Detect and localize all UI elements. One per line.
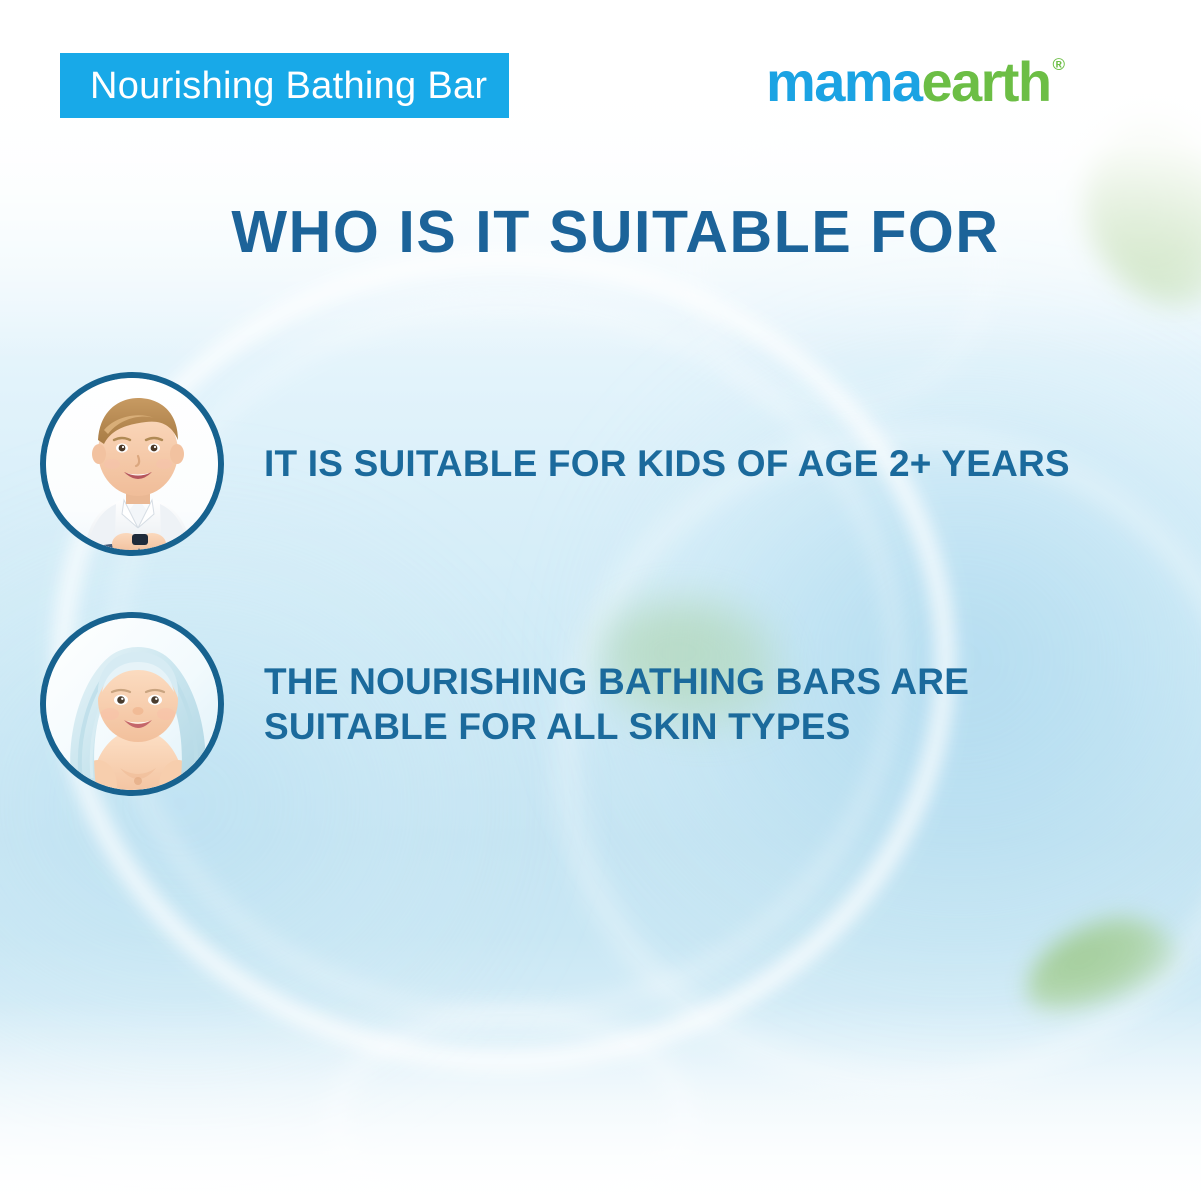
product-title-banner: Nourishing Bathing Bar xyxy=(60,53,509,118)
page-title: WHO IS IT SUITABLE FOR xyxy=(0,203,1201,262)
feature-text-line: SUITABLE FOR ALL SKIN TYPES xyxy=(264,704,969,749)
toddler-boy-illustration xyxy=(46,378,218,550)
list-item: THE NOURISHING BATHING BARS ARE SUITABLE… xyxy=(40,612,1160,796)
brand-logo: mama earth ® xyxy=(766,54,1065,110)
avatar-photo-baby-towel xyxy=(46,618,218,790)
avatar-photo-toddler-boy xyxy=(46,378,218,550)
feature-text: IT IS SUITABLE FOR KIDS OF AGE 2+ YEARS xyxy=(264,441,1070,486)
brand-logo-mama: mama xyxy=(766,54,921,110)
header: Nourishing Bathing Bar mama earth ® xyxy=(0,0,1201,175)
list-item: IT IS SUITABLE FOR KIDS OF AGE 2+ YEARS xyxy=(40,372,1160,556)
registered-trademark-icon: ® xyxy=(1052,56,1065,73)
feature-text: THE NOURISHING BATHING BARS ARE SUITABLE… xyxy=(264,659,969,749)
avatar xyxy=(40,372,224,556)
feature-text-line: IT IS SUITABLE FOR KIDS OF AGE 2+ YEARS xyxy=(264,441,1070,486)
product-title-label: Nourishing Bathing Bar xyxy=(90,67,487,105)
infographic-canvas: Nourishing Bathing Bar mama earth ® WHO … xyxy=(0,0,1201,1200)
baby-with-towel-illustration xyxy=(46,618,218,790)
avatar xyxy=(40,612,224,796)
brand-logo-earth: earth xyxy=(921,54,1050,110)
background-bottom-fade xyxy=(0,1000,1201,1200)
feature-text-line: THE NOURISHING BATHING BARS ARE xyxy=(264,659,969,704)
